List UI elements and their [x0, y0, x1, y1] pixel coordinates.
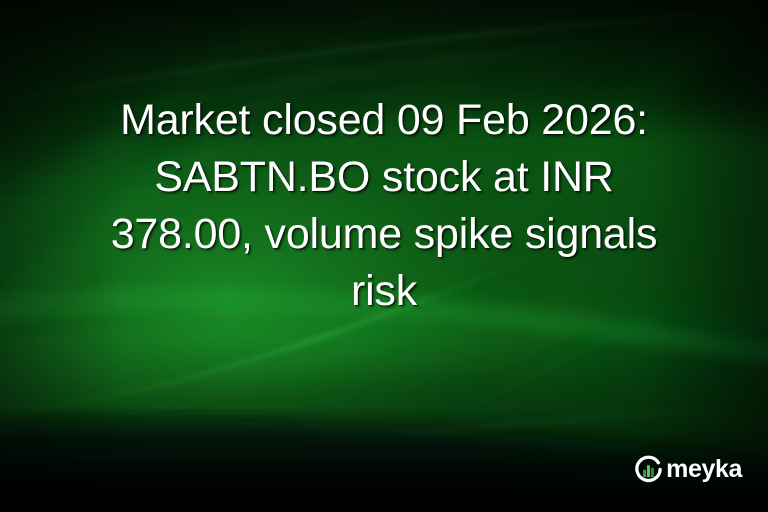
- meyka-logo[interactable]: meyka: [633, 452, 742, 486]
- logo-wordmark: meyka: [666, 457, 742, 482]
- circular-bar-chart-icon: [633, 454, 664, 485]
- headline-text: Market closed 09 Feb 2026: SABTN.BO stoc…: [0, 92, 768, 320]
- news-card: Market closed 09 Feb 2026: SABTN.BO stoc…: [0, 0, 768, 512]
